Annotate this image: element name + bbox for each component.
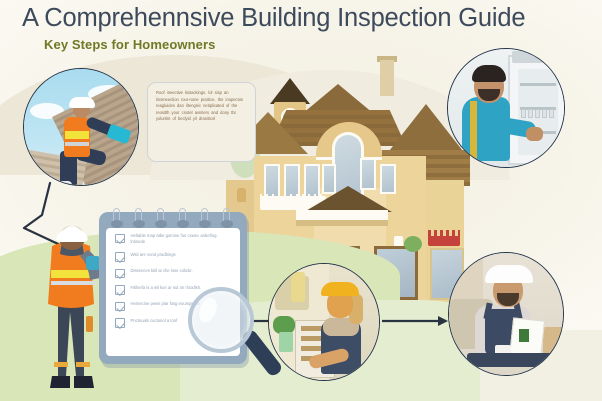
glass-jar xyxy=(279,332,293,352)
checkbox-checked-icon[interactable] xyxy=(115,285,125,295)
infographic-poster: A Comprehennsive Building Inspection Gui… xyxy=(0,0,602,401)
checkbox-checked-icon[interactable] xyxy=(115,302,125,312)
photo-electrical-inspector[interactable] xyxy=(447,48,565,168)
page-title: A Comprehennsive Building Inspection Gui… xyxy=(22,4,525,33)
checklist-item[interactable]: Heltable map atbe gomine fun cxwec anbef… xyxy=(115,233,231,245)
desk-surface xyxy=(467,353,553,367)
clipboard-ring xyxy=(113,208,120,226)
electrician-hair xyxy=(472,65,506,82)
checklist-item[interactable]: Dissences ktiil at che lose colicbr. xyxy=(115,268,231,278)
shrub-right xyxy=(404,236,422,252)
white-hard-hat-icon xyxy=(485,265,533,283)
cardboard-box xyxy=(543,327,564,353)
magnifying-glass-icon[interactable] xyxy=(188,287,254,353)
porch-gable xyxy=(304,186,392,212)
photo-hvac-inspector[interactable] xyxy=(268,263,380,381)
window-upper-1 xyxy=(264,164,280,198)
porch-bench xyxy=(428,236,460,246)
breaker-2 xyxy=(528,109,533,118)
hard-hat-icon xyxy=(69,97,95,108)
checkbox-checked-icon[interactable] xyxy=(115,234,125,244)
tool-belt-strap xyxy=(470,101,477,161)
breaker-4 xyxy=(542,109,547,118)
yellow-hard-hat-icon xyxy=(321,282,359,296)
checkbox-checked-icon[interactable] xyxy=(115,252,125,262)
electrician-hand xyxy=(526,127,543,141)
clipboard-ring xyxy=(157,208,164,226)
clipboard-ring xyxy=(135,208,142,226)
photo-roof-inspector[interactable] xyxy=(23,68,139,186)
checkbox-checked-icon[interactable] xyxy=(115,269,125,279)
checklist-item-label: Wkit are vond pradbings xyxy=(131,252,228,258)
breaker-3 xyxy=(535,109,540,118)
magnifier-lens xyxy=(188,287,254,353)
clipboard-ring xyxy=(201,208,208,226)
checklist-item-label: Heltable map atbe gomine fun cxwec anbef… xyxy=(131,233,228,245)
clipboard-rings xyxy=(111,208,239,228)
panel-top-unit xyxy=(512,51,560,63)
panel-rail-1 xyxy=(520,83,556,86)
photo-report-inspector[interactable] xyxy=(448,252,564,376)
breaker-1 xyxy=(521,109,526,118)
clipboard-ring xyxy=(223,208,230,226)
clipboard-ring xyxy=(179,208,186,226)
porch-trim xyxy=(296,220,388,226)
storage-canister xyxy=(291,272,305,302)
callout-text: Roof ineective kistackings. lol sisp an … xyxy=(156,90,250,123)
breaker-5 xyxy=(549,109,554,118)
checklist-item[interactable]: Wkit are vond pradbings xyxy=(115,252,231,262)
report-logo-icon xyxy=(519,329,529,342)
roof-inspection-callout: Roof ineective kistackings. lol sisp an … xyxy=(147,82,256,162)
window-upper-2 xyxy=(284,164,300,198)
vest-reflective-band xyxy=(65,131,89,139)
hydrant-icon xyxy=(237,188,246,202)
vest-grey-band xyxy=(65,142,89,146)
checkbox-checked-icon[interactable] xyxy=(115,318,125,328)
page-subtitle: Key Steps for Homeowners xyxy=(44,37,215,52)
checklist-item-label: Dissences ktiil at che lose colicbr. xyxy=(131,268,228,274)
